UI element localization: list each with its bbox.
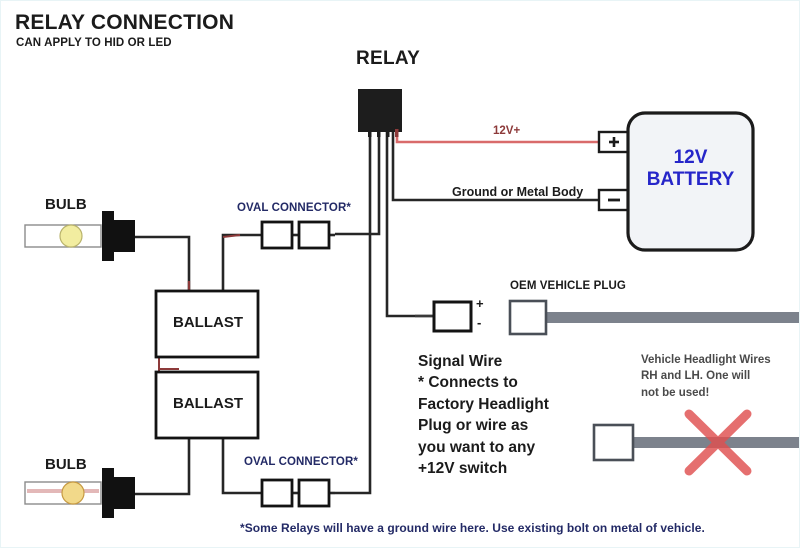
relay-wire-lower-oval xyxy=(335,131,370,493)
oem-headlight-bar xyxy=(544,312,800,323)
signal-plug-box[interactable] xyxy=(434,302,471,331)
oval-connector-lower-label: OVAL CONNECTOR* xyxy=(244,456,358,469)
headlight-wires-note: Vehicle Headlight Wires RH and LH. One w… xyxy=(641,352,771,401)
signal-plug-plus-sign: + xyxy=(476,297,484,312)
bulb-upper[interactable] xyxy=(25,211,135,261)
ground-wire-label: Ground or Metal Body xyxy=(452,185,583,199)
bulb-lower-label: BULB xyxy=(45,457,87,474)
footer-note: *Some Relays will have a ground wire her… xyxy=(240,522,705,535)
ballast1-to-oval-wire xyxy=(223,235,263,291)
page-title: RELAY CONNECTION xyxy=(15,11,234,35)
unused-plug-box[interactable] xyxy=(594,425,633,460)
oval-connector-upper-label: OVAL CONNECTOR* xyxy=(237,202,351,215)
page-subtitle: CAN APPLY TO HID OR LED xyxy=(16,37,172,50)
positive-wire-label: 12V+ xyxy=(493,125,520,138)
battery-label-line2: BATTERY xyxy=(628,169,753,191)
signal-wire-note: Signal Wire * Connects to Factory Headli… xyxy=(418,351,549,479)
relay-connection-diagram: RELAY CONNECTION CAN APPLY TO HID OR LED… xyxy=(0,0,800,548)
oem-plug-box[interactable] xyxy=(510,301,546,334)
battery-positive-terminal xyxy=(599,132,629,152)
bulb1-to-ballast-wire xyxy=(134,237,189,293)
bulb-upper-label: BULB xyxy=(45,197,87,214)
relay-body[interactable] xyxy=(358,89,402,137)
ballast-lower-label: BALLAST xyxy=(173,396,243,413)
battery-negative-terminal xyxy=(599,190,629,210)
relay-wire-upper-oval xyxy=(335,131,379,234)
battery-label: 12V BATTERY xyxy=(628,147,753,192)
ballast-upper-label: BALLAST xyxy=(173,315,243,332)
wiring-layer xyxy=(1,1,800,548)
battery-label-line1: 12V xyxy=(628,147,753,169)
oem-plug-label: OEM VEHICLE PLUG xyxy=(510,280,626,293)
relay-label: RELAY xyxy=(356,48,420,69)
signal-plug-minus-sign: - xyxy=(477,316,481,331)
bulb-lower[interactable] xyxy=(25,468,135,518)
